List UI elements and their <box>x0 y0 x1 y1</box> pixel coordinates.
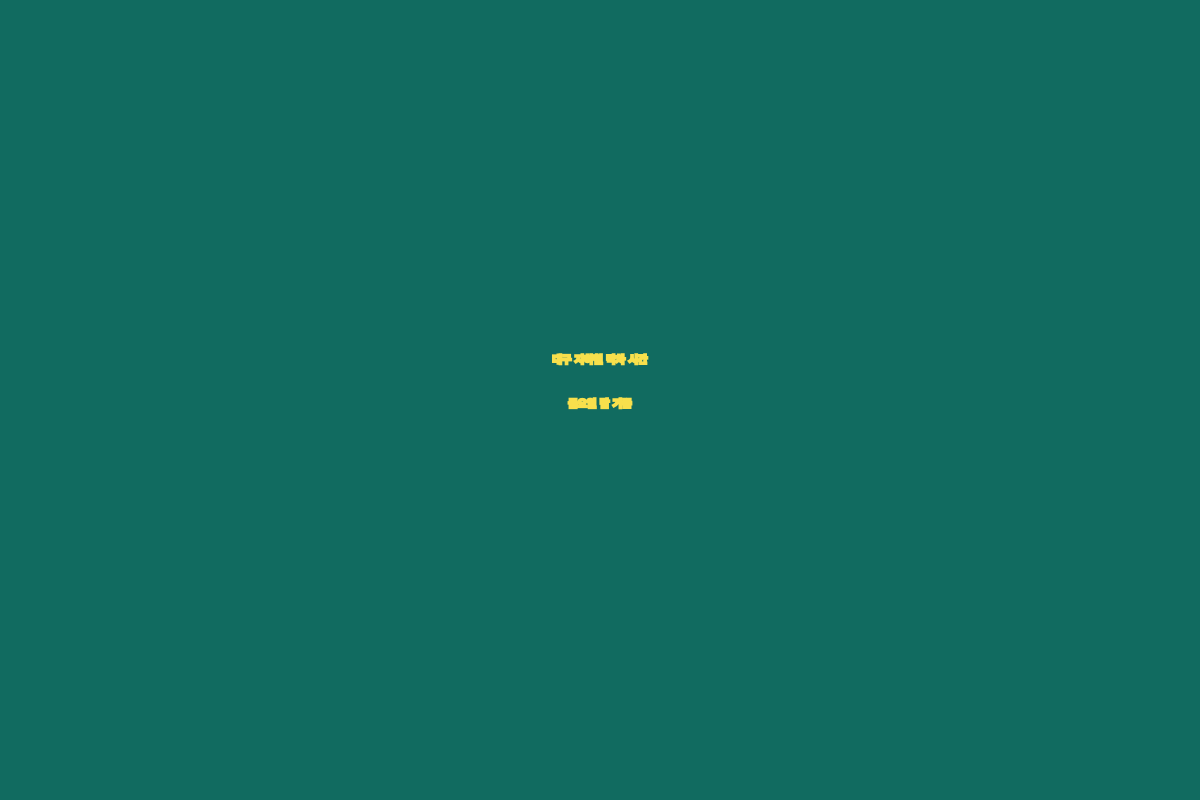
title-line-secondary: 금요일 밤 기준 <box>0 400 1200 410</box>
title-block: 대구 지하철 막차 시간 금요일 밤 기준 <box>0 356 1200 410</box>
title-line-primary: 대구 지하철 막차 시간 <box>0 356 1200 366</box>
title-card: 대구 지하철 막차 시간 금요일 밤 기준 <box>0 0 1200 800</box>
